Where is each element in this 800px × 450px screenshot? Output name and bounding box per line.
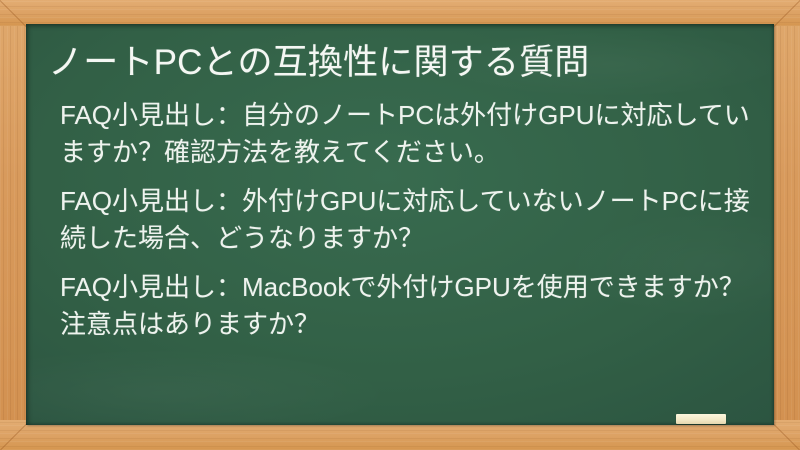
faq-list-item: FAQ小見出し：自分のノートPCは外付けGPUに対応していますか？確認方法を教え… (60, 97, 750, 171)
page-title: ノートPCとの互換性に関する質問 (48, 42, 752, 83)
faq-list-item: FAQ小見出し：MacBookで外付けGPUを使用できますか？注意点はありますか… (60, 269, 750, 343)
faq-list: FAQ小見出し：自分のノートPCは外付けGPUに対応していますか？確認方法を教え… (42, 97, 752, 342)
slide-canvas: ノートPCとの互換性に関する質問 FAQ小見出し：自分のノートPCは外付けGPU… (0, 0, 800, 450)
chalk-stick-icon (676, 414, 726, 424)
faq-list-item: FAQ小見出し：外付けGPUに対応していないノートPCに接続した場合、どうなりま… (60, 183, 750, 257)
blackboard-content: ノートPCとの互換性に関する質問 FAQ小見出し：自分のノートPCは外付けGPU… (26, 24, 774, 425)
frame-rail-top (0, 0, 800, 26)
blackboard: ノートPCとの互換性に関する質問 FAQ小見出し：自分のノートPCは外付けGPU… (26, 24, 774, 425)
